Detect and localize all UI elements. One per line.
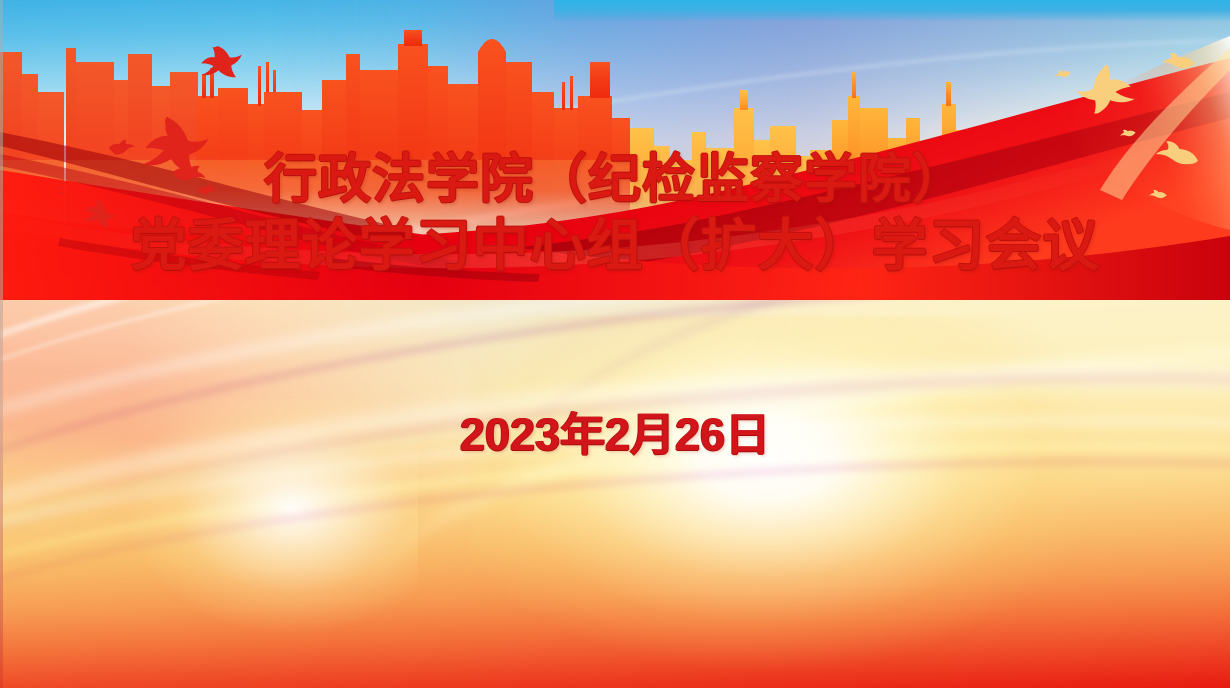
left-edge-border: [0, 0, 3, 688]
presentation-title-slide: 行政法学院（纪检监察学院） 党委理论学习中心组（扩大）学习会议 2023年2月2…: [0, 0, 1230, 688]
flying-birds-group: [0, 0, 1230, 688]
bird-icon: [1070, 58, 1140, 116]
bird-icon: [188, 38, 247, 88]
page-title-line-2: 党委理论学习中心组（扩大）学习会议: [0, 214, 1230, 278]
title-block: 行政法学院（纪检监察学院） 党委理论学习中心组（扩大）学习会议: [0, 150, 1230, 278]
bird-icon: [1158, 47, 1199, 79]
meeting-date: 2023年2月26日: [0, 398, 1230, 463]
page-title-line-1: 行政法学院（纪检监察学院）: [0, 150, 1230, 210]
bird-icon: [1118, 126, 1138, 143]
bird-icon: [1053, 67, 1073, 84]
